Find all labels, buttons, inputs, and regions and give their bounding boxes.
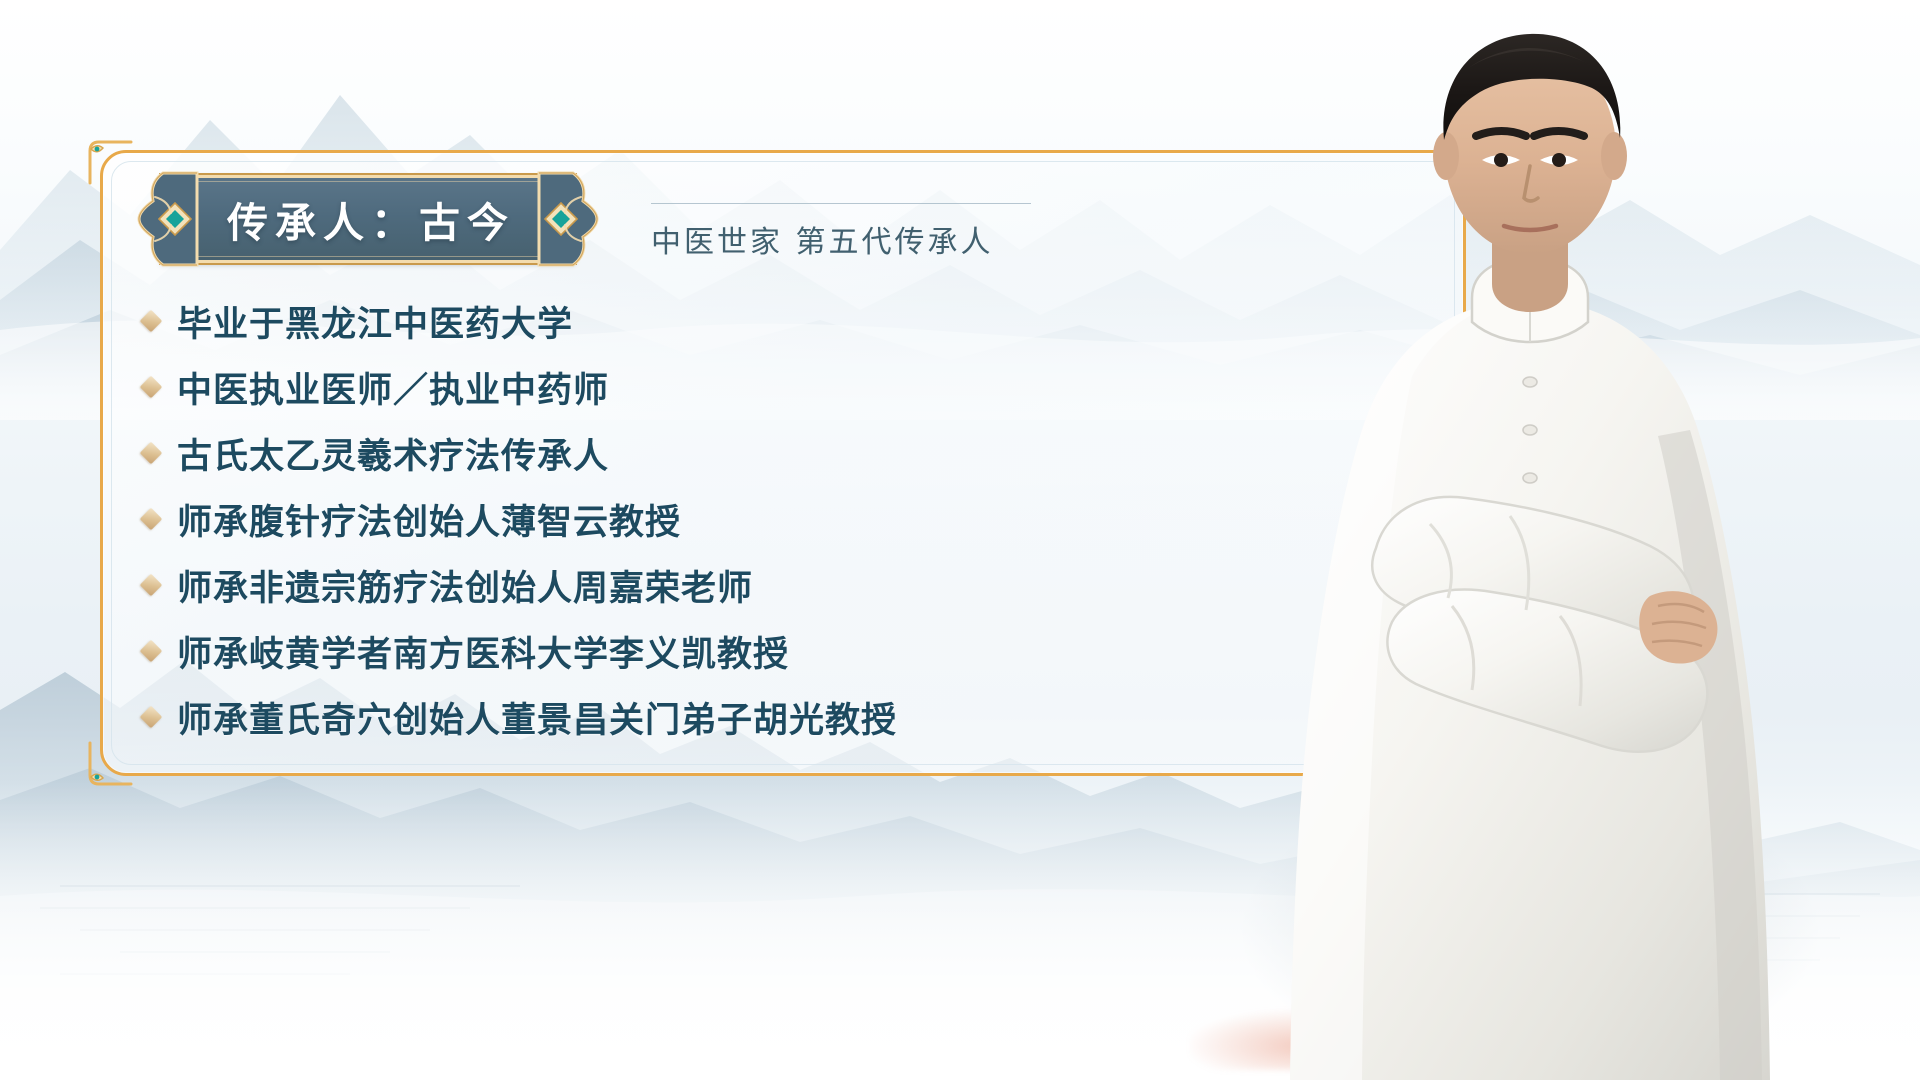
corner-ornament-bottom-left-icon	[87, 741, 133, 787]
credential-text: 师承董氏奇穴创始人董景昌关门弟子胡光教授	[177, 692, 897, 743]
credential-text: 师承非遗宗筋疗法创始人周嘉荣老师	[177, 560, 753, 611]
diamond-bullet-icon	[140, 376, 163, 399]
diamond-bullet-icon	[140, 310, 163, 333]
credential-text: 古氏太乙灵羲术疗法传承人	[177, 428, 609, 479]
diamond-bullet-icon	[140, 508, 163, 531]
plaque-ornament-left-icon	[119, 171, 215, 267]
diamond-bullet-icon	[140, 574, 163, 597]
title-plaque: 传承人：古今	[133, 171, 603, 267]
subtitle-divider	[651, 203, 1031, 204]
diamond-bullet-icon	[140, 442, 163, 465]
subtitle-text: 中医世家 第五代传承人	[651, 217, 1031, 261]
header-row: 传承人：古今 中医世家 第五代传承人	[133, 171, 1031, 267]
credential-text: 师承岐黄学者南方医科大学李义凯教授	[177, 626, 789, 677]
banner-stage: 传承人：古今 中医世家 第五代传承人 毕业于黑龙江中医药大学 中医执业医师／执业…	[0, 0, 1920, 1080]
plaque-title: 传承人：古今	[221, 189, 515, 249]
diamond-bullet-icon	[140, 640, 163, 663]
practitioner-portrait	[1180, 0, 1880, 1080]
credential-text: 毕业于黑龙江中医药大学	[177, 296, 573, 347]
credential-text: 中医执业医师／执业中药师	[177, 362, 609, 413]
diamond-bullet-icon	[140, 706, 163, 729]
plaque-ornament-right-icon	[521, 171, 617, 267]
credential-text: 师承腹针疗法创始人薄智云教授	[177, 494, 681, 545]
subtitle-block: 中医世家 第五代传承人	[651, 177, 1031, 261]
